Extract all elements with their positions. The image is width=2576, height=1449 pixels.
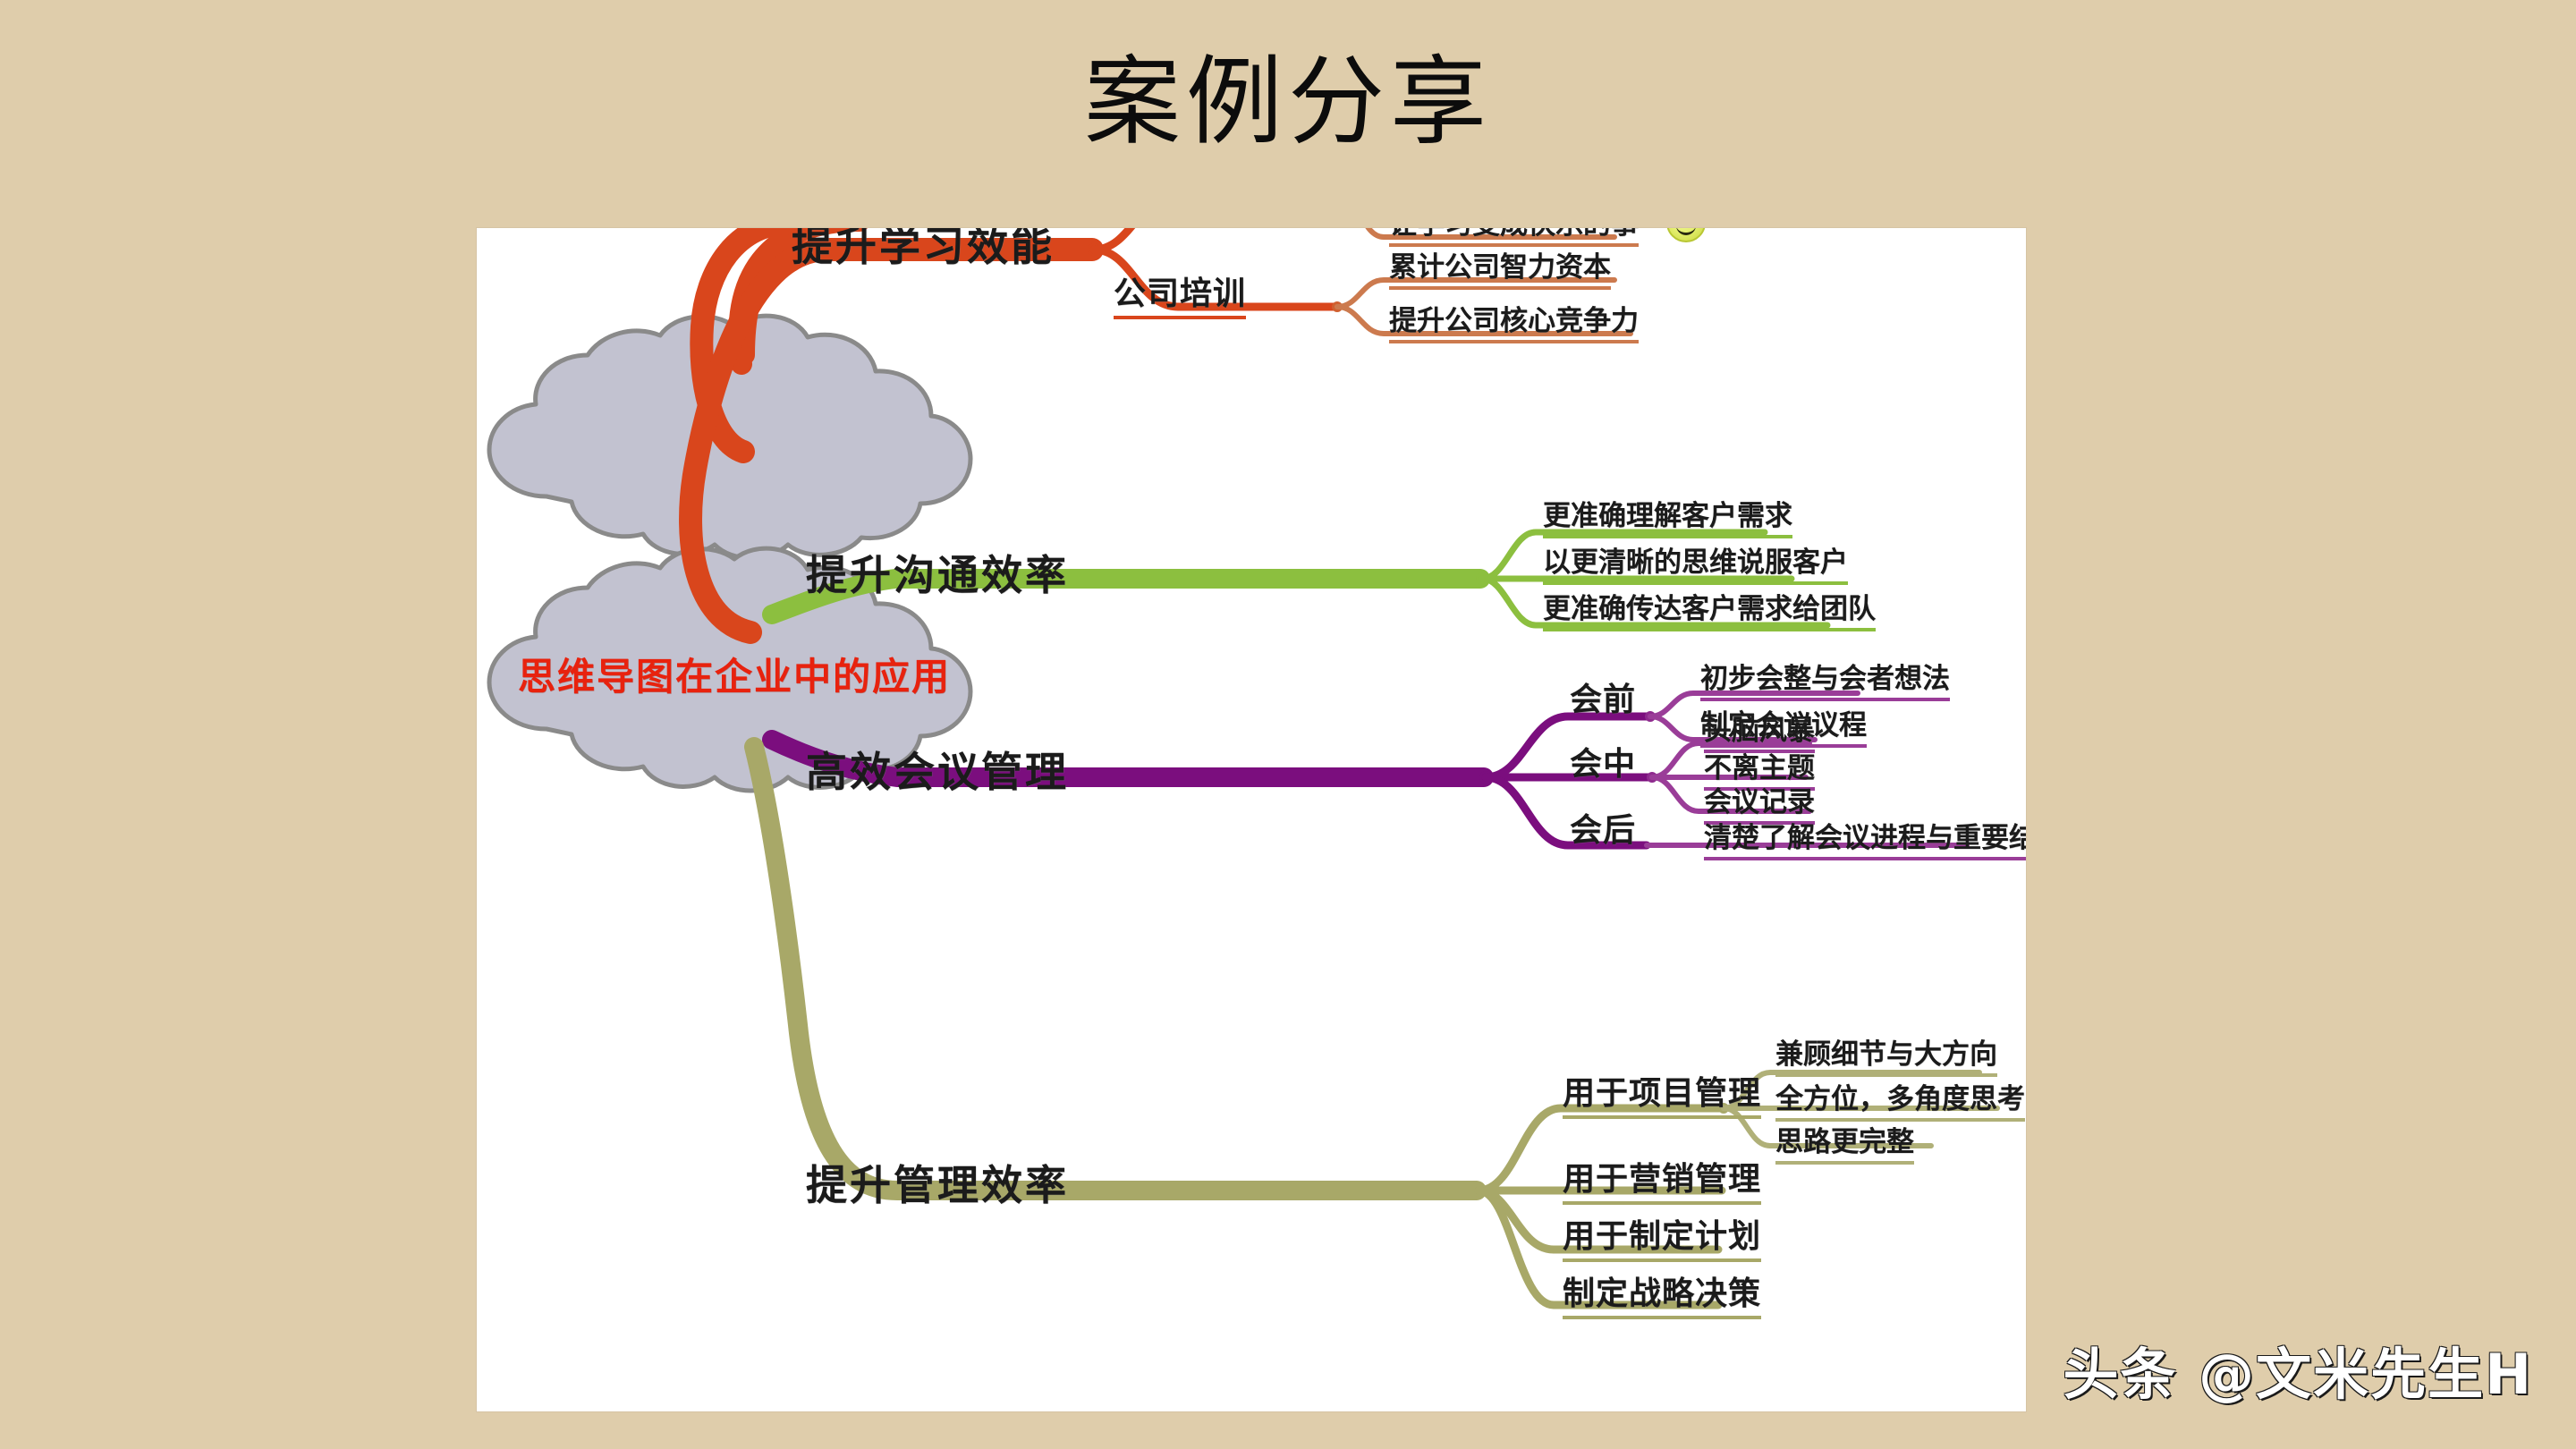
branch-label-meeting[interactable]: 高效会议管理 — [806, 740, 1069, 799]
leaf-label-understand-client-needs[interactable]: 更准确理解客户需求 — [1543, 493, 1792, 538]
node-label-company-training[interactable]: 公司培训 — [1114, 267, 1246, 319]
branch-label-management[interactable]: 提升管理效率 — [806, 1153, 1069, 1212]
watermark-text: 头条 @文米先生H — [2063, 1329, 2533, 1410]
branch-label-communication[interactable]: 提升沟通效率 — [806, 543, 1069, 602]
node-label-make-plans[interactable]: 用于制定计划 — [1563, 1210, 1761, 1262]
node-label-project-management[interactable]: 用于项目管理 — [1563, 1067, 1761, 1119]
node-label-after-meeting[interactable]: 会后 — [1570, 804, 1636, 851]
central-node-label[interactable]: 思维导图在企业中的应用 — [518, 647, 951, 701]
leaf-label-understand-progress-conclusions[interactable]: 清楚了解会议进程与重要结论 — [1704, 815, 2026, 860]
leaf-label-details-and-direction[interactable]: 兼顾细节与大方向 — [1775, 1031, 1997, 1077]
leaf-label-complete-thinking[interactable]: 思路更完整 — [1775, 1119, 1914, 1165]
leaf-label-persuade-client[interactable]: 以更清晰的思维说服客户 — [1543, 539, 1848, 585]
leaf-label-intellectual-capital[interactable]: 累计公司智力资本 — [1389, 244, 1611, 290]
node-label-strategic-decisions[interactable]: 制定战略决策 — [1563, 1267, 1761, 1319]
leaf-label-multi-angle-thinking[interactable]: 全方位，多角度思考 — [1775, 1076, 2025, 1122]
leaf-label-collect-ideas[interactable]: 初步会整与会者想法 — [1700, 656, 1950, 701]
mindmap-canvas: 思维导图在企业中的应用 提升学习效能 个体学习 公司培训 加速信息吸收速度 远离… — [477, 228, 2026, 1411]
page-title: 案例分享 — [0, 55, 2576, 152]
leaf-label-convey-needs-to-team[interactable]: 更准确传达客户需求给团队 — [1543, 586, 1876, 631]
leaf-label-core-competitiveness[interactable]: 提升公司核心竞争力 — [1389, 298, 1639, 343]
node-label-during-meeting[interactable]: 会中 — [1570, 738, 1636, 784]
node-label-before-meeting[interactable]: 会前 — [1570, 674, 1636, 720]
node-label-marketing-management[interactable]: 用于营销管理 — [1563, 1153, 1761, 1205]
branch-label-learning[interactable]: 提升学习效能 — [792, 228, 1055, 273]
